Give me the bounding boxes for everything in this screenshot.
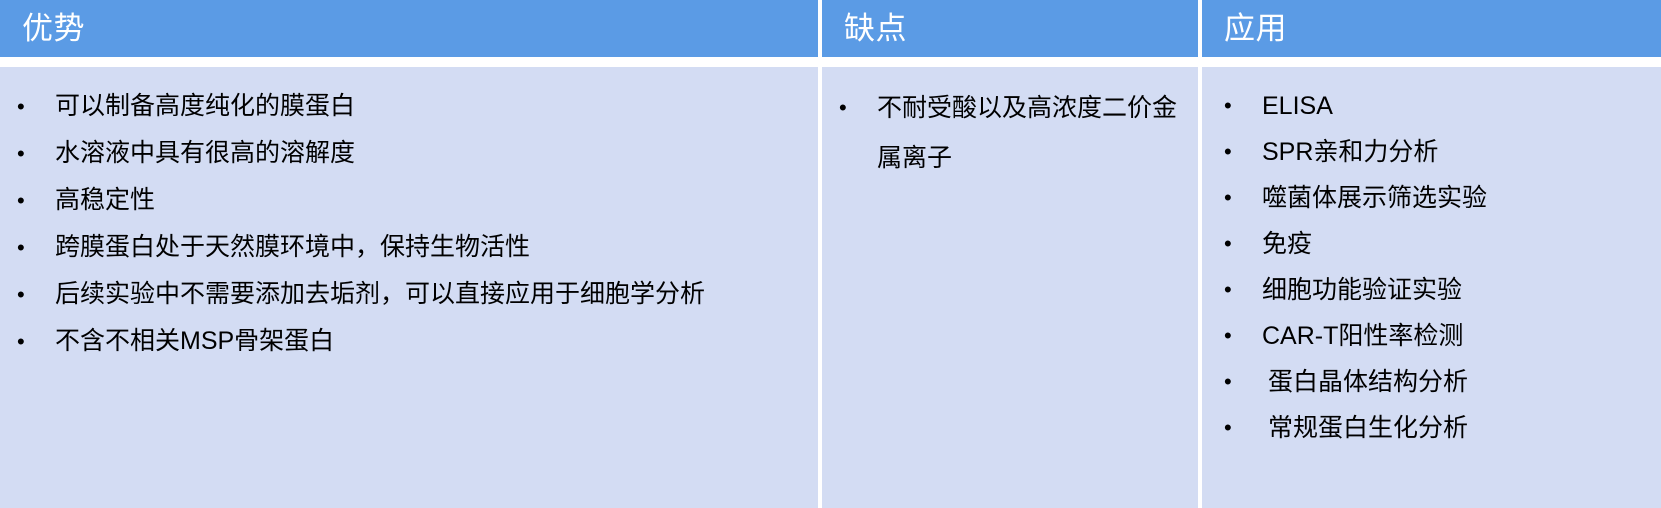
- list-item-label: 高稳定性: [55, 186, 155, 214]
- bullet-icon: •: [1224, 83, 1233, 129]
- list-item: • 水溶液中具有很高的溶解度: [0, 130, 808, 177]
- list-item-label: 噬菌体展示筛选实验: [1262, 184, 1487, 212]
- list-item-label: 常规蛋白生化分析: [1262, 414, 1468, 442]
- bullet-icon: •: [839, 83, 848, 133]
- bullet-icon: •: [17, 318, 26, 365]
- body-cell-disadvantages: • 不耐受酸以及高浓度二价金属离子: [822, 67, 1198, 508]
- header-cell-advantages: 优势: [0, 0, 818, 57]
- list-item-label: 蛋白晶体结构分析: [1262, 368, 1468, 396]
- bullet-icon: •: [1224, 221, 1233, 267]
- header-cell-applications: 应用: [1202, 0, 1661, 57]
- bullet-list-applications: • ELISA • SPR亲和力分析 • 噬菌体展示筛选实验 • 免疫 •: [1202, 83, 1651, 451]
- bullet-icon: •: [17, 177, 26, 224]
- bullet-icon: •: [1224, 405, 1233, 451]
- list-item: • 免疫: [1202, 221, 1651, 267]
- list-item-label: 不含不相关MSP骨架蛋白: [55, 327, 334, 355]
- column-title-advantages: 优势: [22, 13, 85, 44]
- comparison-table: 优势 缺点 应用 • 可以制备高度纯化的膜蛋白 • 水溶液中具有很高的溶解度: [0, 0, 1661, 508]
- list-item-label: SPR亲和力分析: [1262, 138, 1438, 166]
- body-cell-applications: • ELISA • SPR亲和力分析 • 噬菌体展示筛选实验 • 免疫 •: [1202, 67, 1661, 508]
- list-item: • 高稳定性: [0, 177, 808, 224]
- list-item: • 蛋白晶体结构分析: [1202, 359, 1651, 405]
- list-item-label: 免疫: [1262, 230, 1312, 258]
- column-title-disadvantages: 缺点: [844, 13, 907, 44]
- list-item: • 细胞功能验证实验: [1202, 267, 1651, 313]
- list-item: • 不耐受酸以及高浓度二价金属离子: [822, 83, 1184, 183]
- list-item: • 不含不相关MSP骨架蛋白: [0, 318, 808, 365]
- bullet-icon: •: [17, 271, 26, 318]
- list-item-label: 跨膜蛋白处于天然膜环境中，保持生物活性: [55, 233, 530, 261]
- list-item-label: 可以制备高度纯化的膜蛋白: [55, 92, 355, 120]
- bullet-icon: •: [1224, 359, 1233, 405]
- list-item: • 跨膜蛋白处于天然膜环境中，保持生物活性: [0, 224, 808, 271]
- header-cell-disadvantages: 缺点: [822, 0, 1198, 57]
- bullet-icon: •: [17, 130, 26, 177]
- bullet-icon: •: [1224, 175, 1233, 221]
- body-cell-advantages: • 可以制备高度纯化的膜蛋白 • 水溶液中具有很高的溶解度 • 高稳定性 • 跨…: [0, 67, 818, 508]
- list-item: • 可以制备高度纯化的膜蛋白: [0, 83, 808, 130]
- table-header-row: 优势 缺点 应用: [0, 0, 1661, 57]
- bullet-icon: •: [1224, 267, 1233, 313]
- bullet-icon: •: [17, 224, 26, 271]
- list-item: • 噬菌体展示筛选实验: [1202, 175, 1651, 221]
- table-body-row: • 可以制备高度纯化的膜蛋白 • 水溶液中具有很高的溶解度 • 高稳定性 • 跨…: [0, 67, 1661, 508]
- list-item: • 后续实验中不需要添加去垢剂，可以直接应用于细胞学分析: [0, 271, 808, 318]
- list-item: • 常规蛋白生化分析: [1202, 405, 1651, 451]
- list-item-label: ELISA: [1262, 92, 1333, 120]
- list-item-label: CAR-T阳性率检测: [1262, 322, 1463, 350]
- list-item: • SPR亲和力分析: [1202, 129, 1651, 175]
- bullet-icon: •: [1224, 313, 1233, 359]
- bullet-list-disadvantages: • 不耐受酸以及高浓度二价金属离子: [822, 83, 1184, 183]
- list-item: • ELISA: [1202, 83, 1651, 129]
- list-item-label: 不耐受酸以及高浓度二价金属离子: [877, 94, 1177, 172]
- bullet-icon: •: [1224, 129, 1233, 175]
- list-item-label: 后续实验中不需要添加去垢剂，可以直接应用于细胞学分析: [55, 280, 705, 308]
- list-item-label: 水溶液中具有很高的溶解度: [55, 139, 355, 167]
- list-item-label: 细胞功能验证实验: [1262, 276, 1462, 304]
- column-title-applications: 应用: [1224, 13, 1287, 44]
- bullet-icon: •: [17, 83, 26, 130]
- list-item: • CAR-T阳性率检测: [1202, 313, 1651, 359]
- bullet-list-advantages: • 可以制备高度纯化的膜蛋白 • 水溶液中具有很高的溶解度 • 高稳定性 • 跨…: [0, 83, 808, 365]
